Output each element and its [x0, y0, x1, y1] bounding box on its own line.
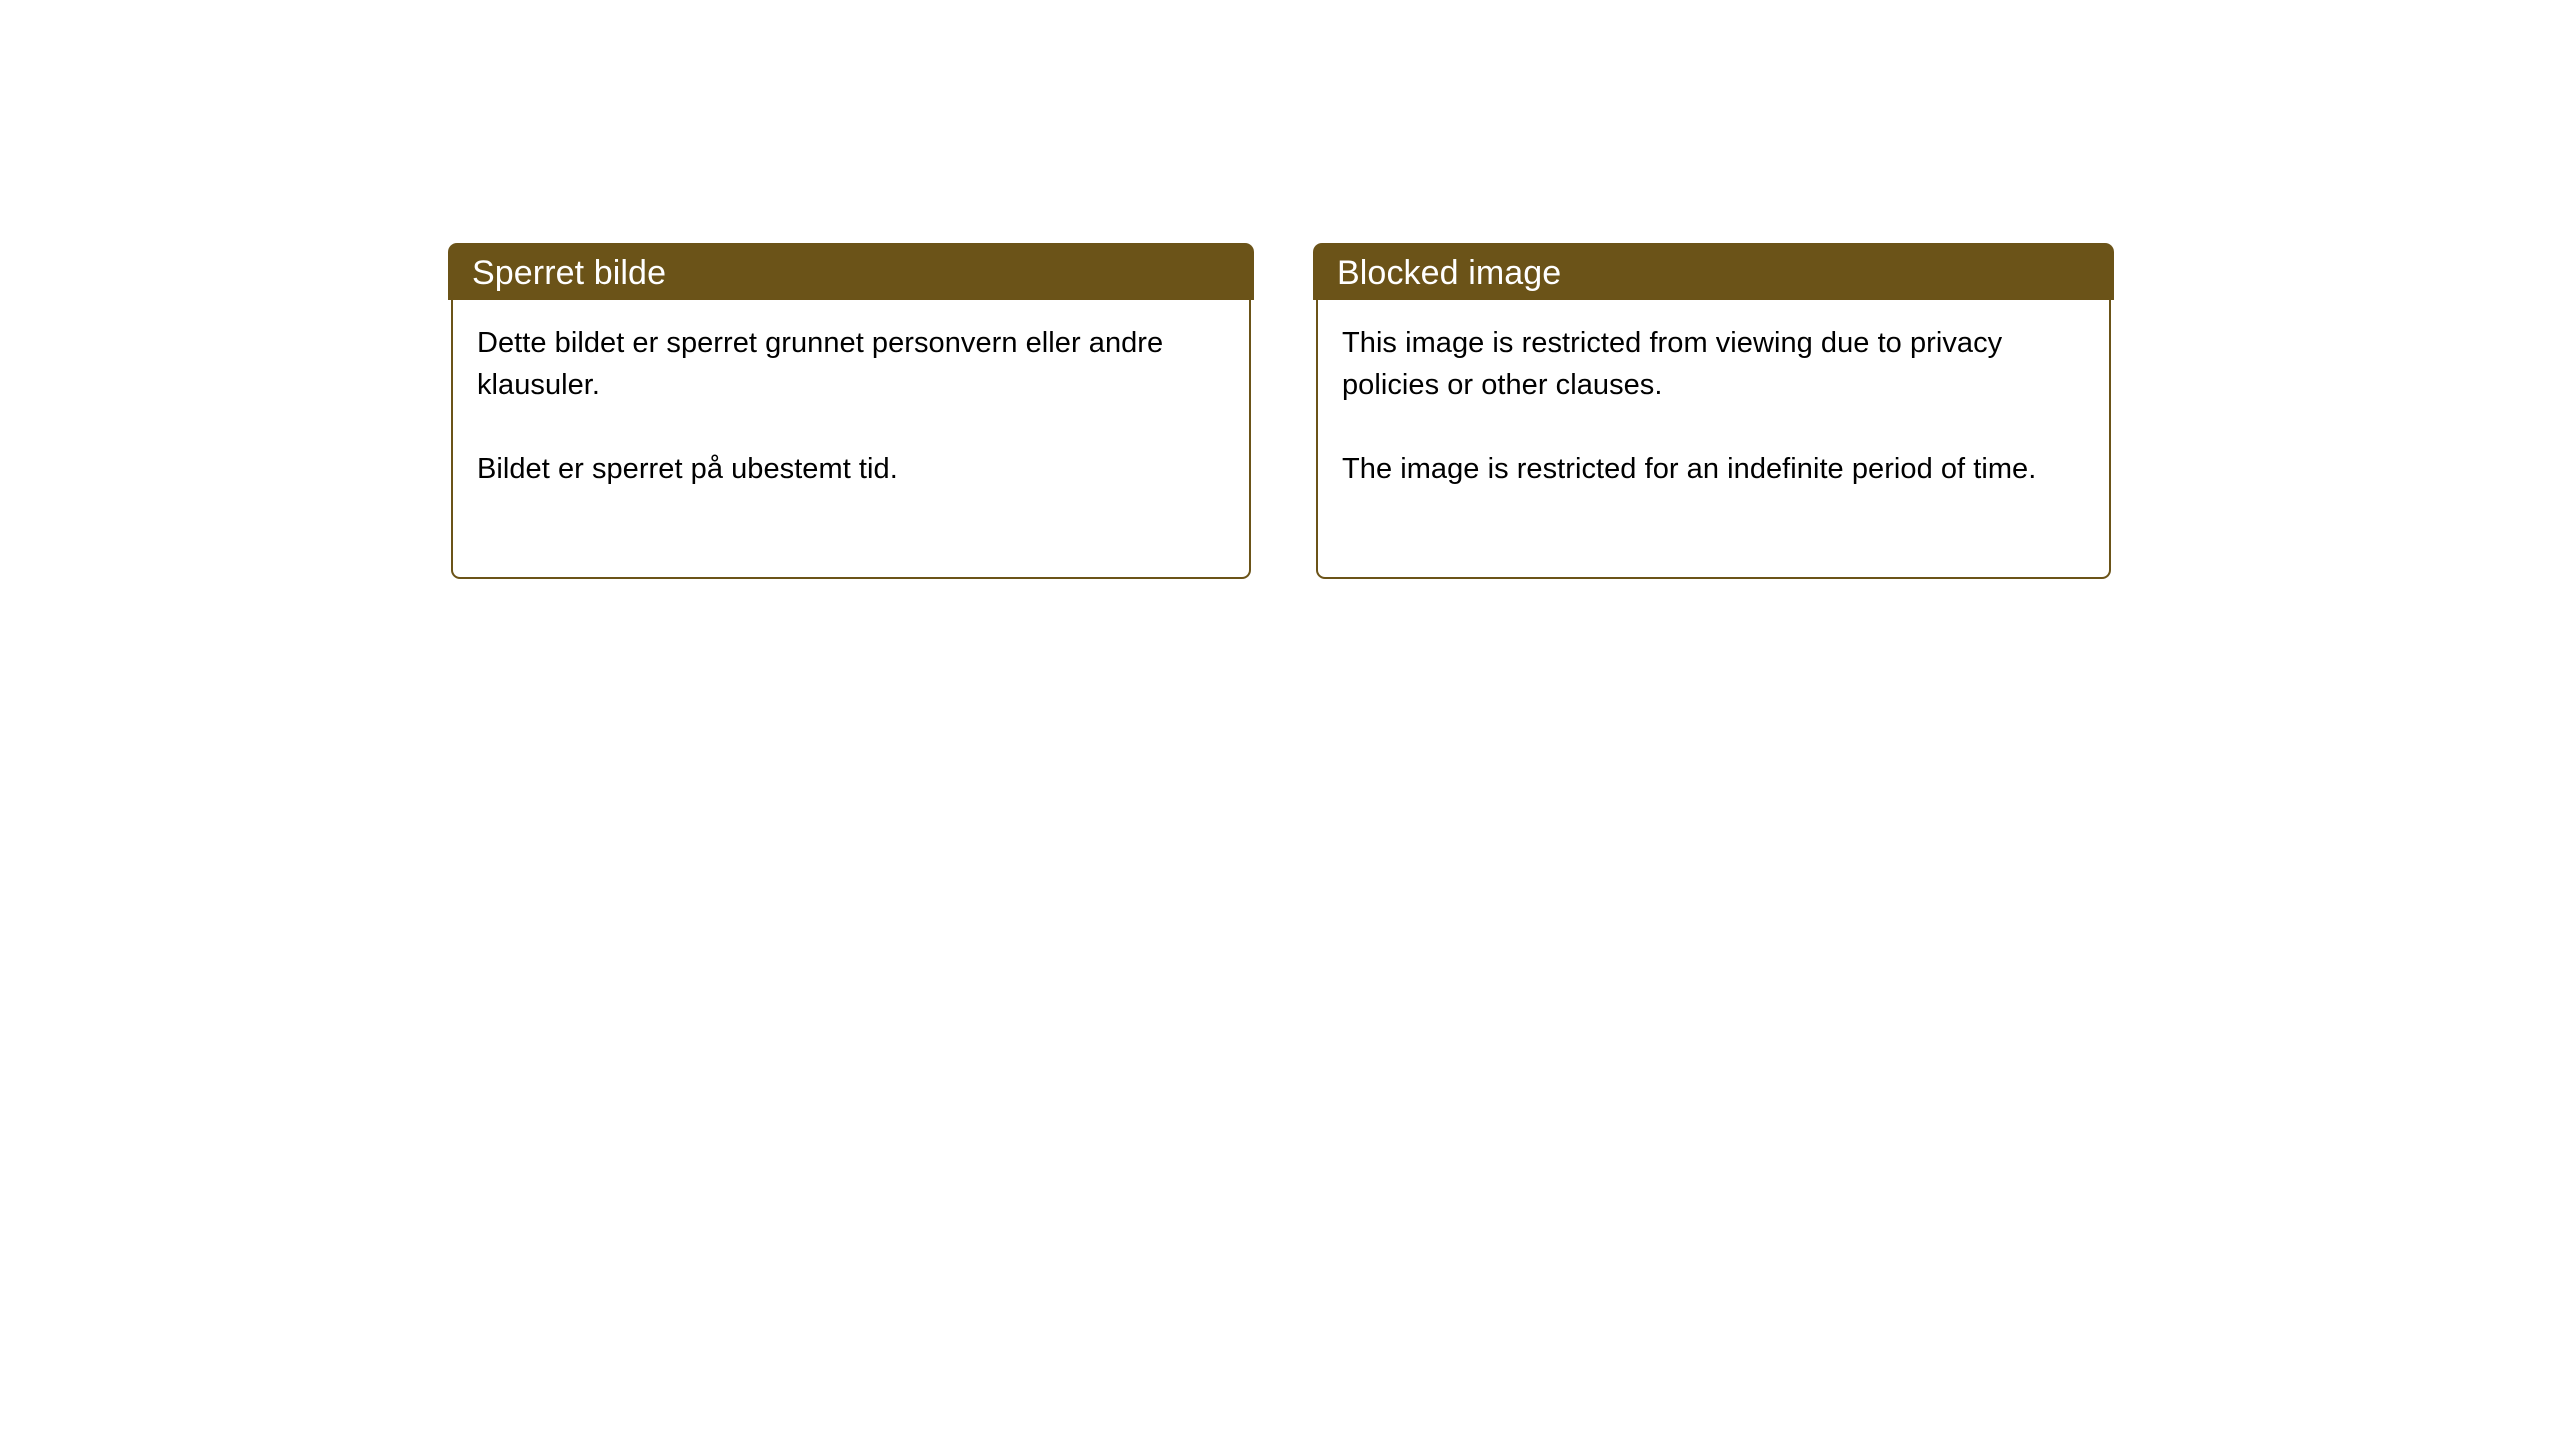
panel-message-primary-en: This image is restricted from viewing du… [1342, 322, 2083, 406]
panel-header-no: Sperret bilde [448, 243, 1254, 300]
panel-body-en: This image is restricted from viewing du… [1316, 300, 2111, 579]
blocked-image-panel-no: Sperret bilde Dette bildet er sperret gr… [448, 243, 1254, 579]
panel-title-no: Sperret bilde [472, 256, 666, 290]
panel-header-en: Blocked image [1313, 243, 2114, 300]
panel-message-secondary-en: The image is restricted for an indefinit… [1342, 448, 2083, 490]
panel-title-en: Blocked image [1337, 256, 1561, 290]
panel-message-primary-no: Dette bildet er sperret grunnet personve… [477, 322, 1223, 406]
panel-body-no: Dette bildet er sperret grunnet personve… [451, 300, 1251, 579]
blocked-image-panel-en: Blocked image This image is restricted f… [1313, 243, 2114, 579]
panel-message-secondary-no: Bildet er sperret på ubestemt tid. [477, 448, 1223, 490]
screen-root: Sperret bilde Dette bildet er sperret gr… [0, 0, 2560, 1440]
